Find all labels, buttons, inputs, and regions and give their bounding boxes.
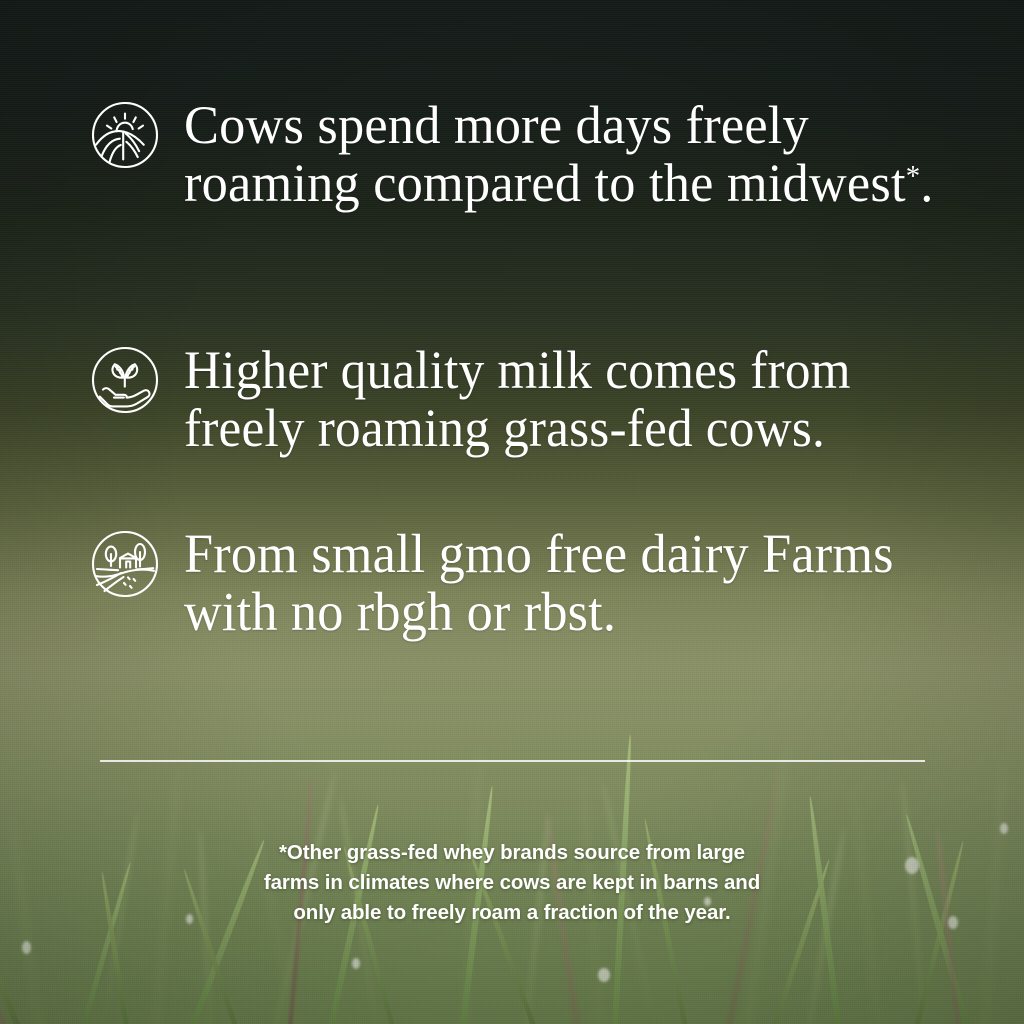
divider-rule bbox=[100, 760, 925, 762]
hand-holding-sprout-icon bbox=[90, 345, 160, 415]
benefit-text-3: From small gmo free dairy Farms with no … bbox=[184, 525, 950, 641]
benefit-2-line-1: Higher quality milk comes from bbox=[184, 340, 851, 400]
sun-over-fields-icon bbox=[90, 100, 160, 170]
footnote-marker: * bbox=[906, 161, 921, 193]
footnote-line-1: *Other grass-fed whey brands source from… bbox=[0, 838, 1024, 868]
farm-barn-fields-icon bbox=[90, 529, 160, 599]
benefit-1-terminator: . bbox=[920, 153, 933, 213]
benefit-text-2: Higher quality milk comes from freely ro… bbox=[184, 341, 950, 457]
marketing-panel: Cows spend more days freely roaming comp… bbox=[0, 0, 1024, 1024]
benefit-text-1: Cows spend more days freely roaming comp… bbox=[184, 96, 946, 212]
benefit-item-2: Higher quality milk comes from freely ro… bbox=[90, 341, 990, 457]
footnote-line-3: only able to freely roam a fraction of t… bbox=[0, 898, 1024, 928]
benefit-item-1: Cows spend more days freely roaming comp… bbox=[90, 96, 970, 212]
footnote-disclaimer: *Other grass-fed whey brands source from… bbox=[0, 838, 1024, 928]
benefit-1-line-3: midwest bbox=[727, 153, 906, 213]
benefit-1-line-1: Cows spend more days freely bbox=[184, 95, 809, 155]
benefit-item-3: From small gmo free dairy Farms with no … bbox=[90, 525, 990, 641]
benefit-2-line-2: freely roaming grass-fed cows. bbox=[184, 398, 825, 458]
benefit-1-line-2: roaming compared to the bbox=[184, 153, 714, 213]
benefit-3-line-1: From small gmo free dairy bbox=[184, 523, 749, 584]
footnote-line-2: farms in climates where cows are kept in… bbox=[0, 868, 1024, 898]
